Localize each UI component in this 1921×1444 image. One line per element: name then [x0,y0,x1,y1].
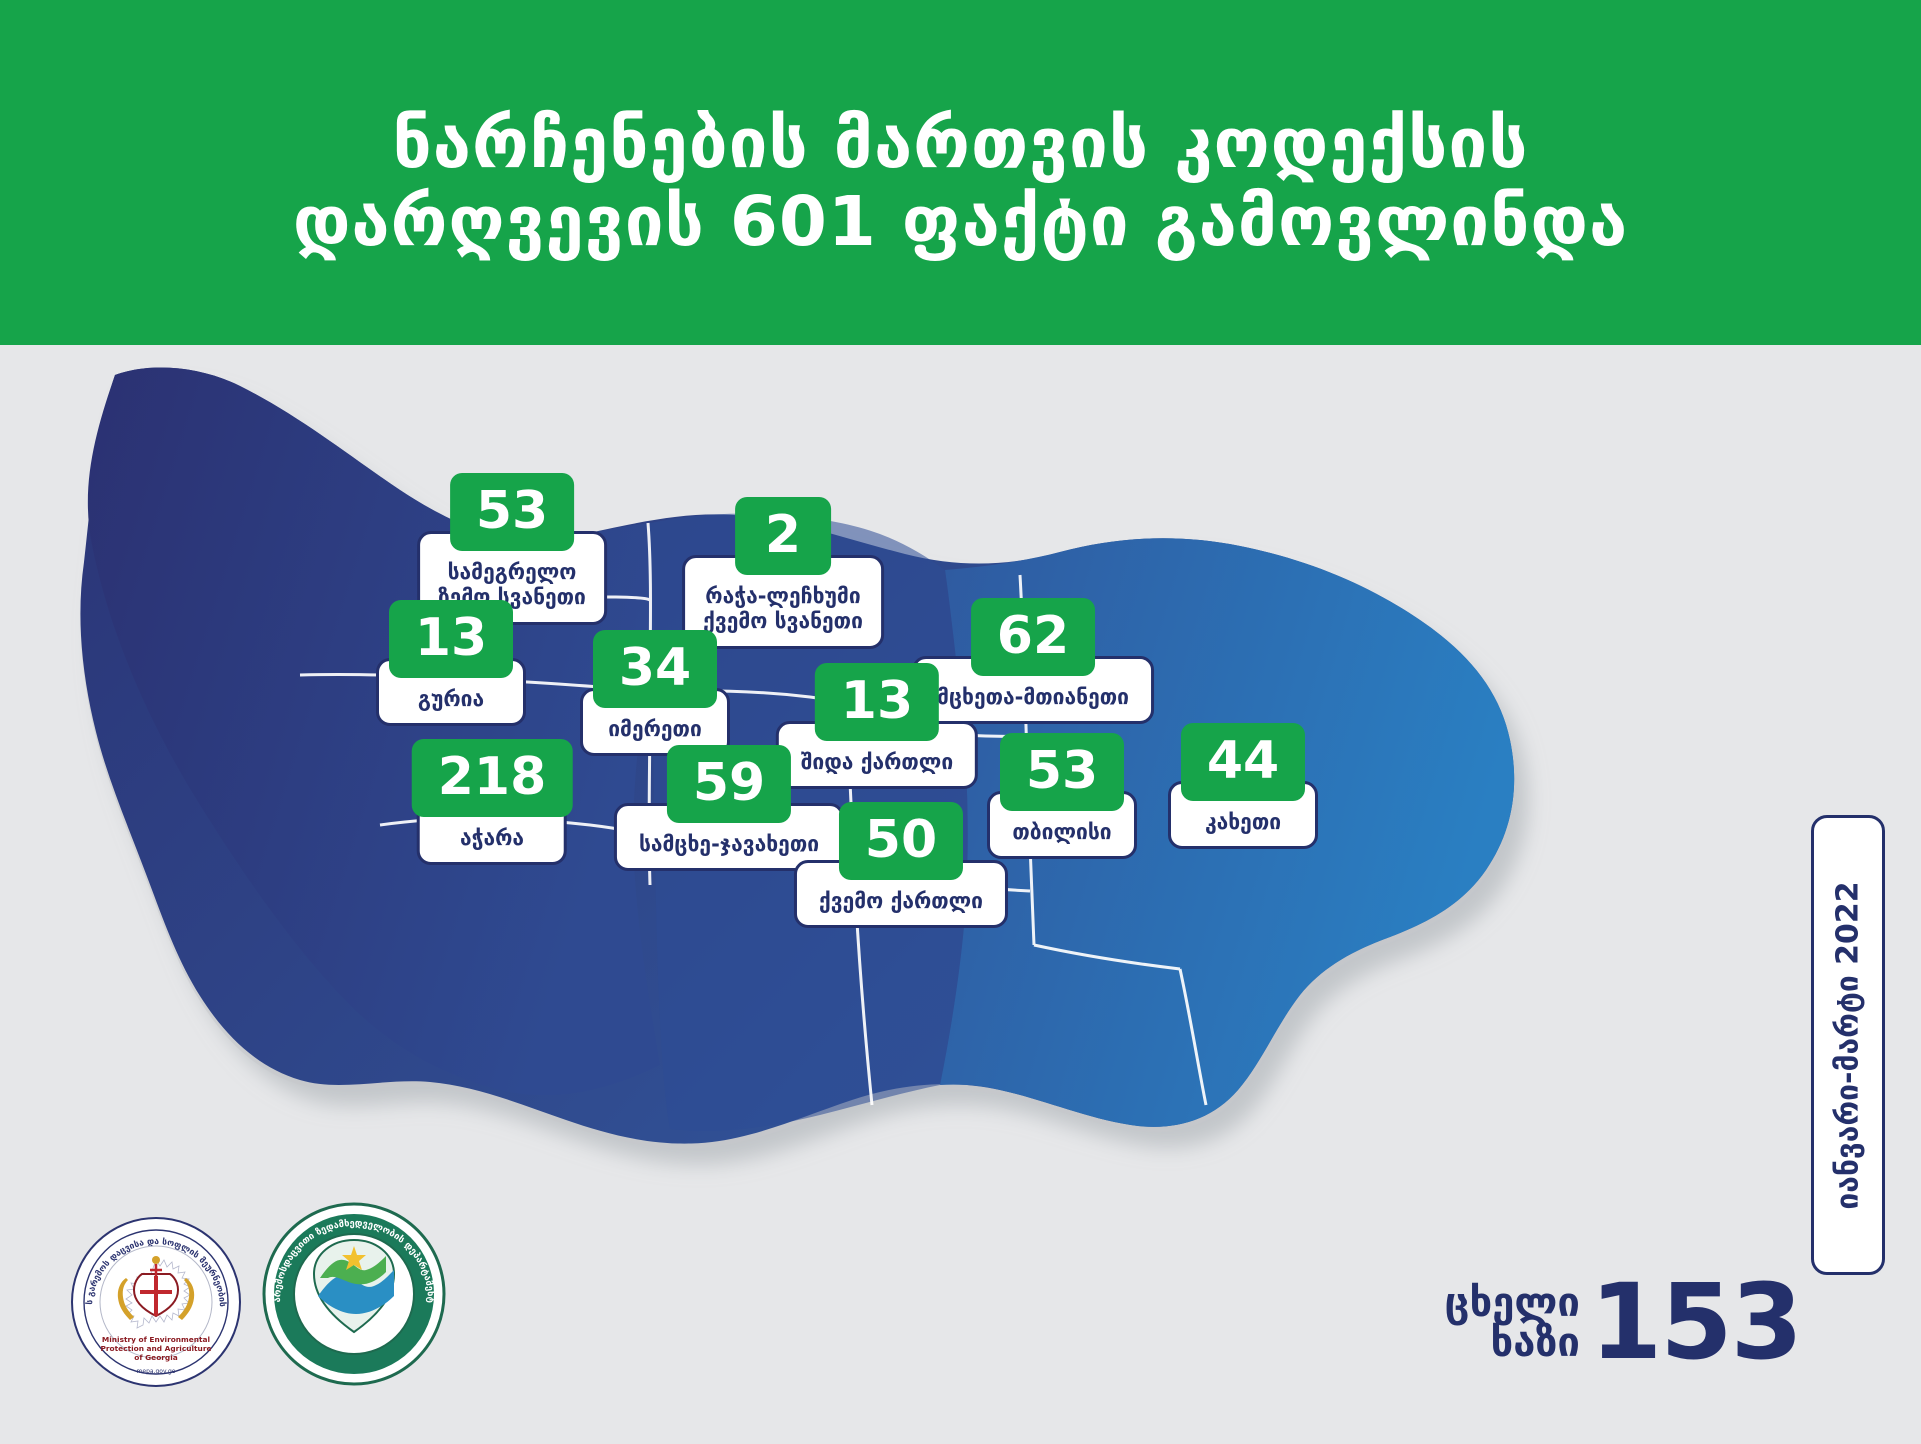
page-title-line-1: ნარჩენების მართვის კოდექსის [393,106,1529,183]
region-value-badge: 50 [839,802,963,880]
environmental-supervision-department-emblem: გარემოსდაცვითი ზედამხედველობის დეპარტამე… [260,1200,448,1392]
region-value-badge: 53 [1000,733,1124,811]
hotline-word-line-1: ცხელი [1445,1283,1580,1323]
emblem-caption-en-3: of Georgia [134,1353,177,1362]
region-value-badge: 62 [971,598,1095,676]
region-value-badge: 13 [815,663,939,741]
region-value-badge: 34 [593,630,717,708]
hotline-word-line-2: ხაზი [1445,1323,1580,1363]
region-value-badge: 13 [389,600,513,678]
region-value-badge: 44 [1181,723,1305,801]
emblem-caption-url: mepa.gov.ge [137,1368,176,1375]
emblem-group: Ministry of Environmental Protection and… [70,1200,448,1392]
region-value-badge: 2 [735,497,831,575]
hotline-words: ცხელი ხაზი [1445,1283,1580,1363]
period-label: იანვარი-მარტი 2022 [1831,881,1866,1209]
period-badge: იანვარი-მარტი 2022 [1811,815,1885,1275]
region-value-badge: 218 [412,739,573,817]
region-pin: 13გურია [376,600,526,726]
region-pin: 44კახეთი [1168,723,1318,849]
page-title-line-2: დარღვევის 601 ფაქტი გამოვლინდა [293,184,1628,261]
header-banner: ნარჩენების მართვის კოდექსის დარღვევის 60… [0,0,1921,345]
emblem-caption-en-2: Protection and Agriculture [101,1344,212,1353]
hotline-number: 153 [1590,1276,1801,1370]
region-pin: 34იმერეთი [580,630,730,756]
map-area: 53სამეგრელო ზემო სვანეთი2რაჭა-ლეჩხუმი ქვ… [0,345,1921,1444]
emblem-caption-en-1: Ministry of Environmental [102,1335,210,1344]
region-value-badge: 53 [450,473,574,551]
region-pin: 53თბილისი [987,733,1137,859]
region-pin: 218აჭარა [412,739,573,865]
hotline-branding: ცხელი ხაზი 153 [1445,1276,1801,1370]
region-value-badge: 59 [667,745,791,823]
region-pin: 50ქვემო ქართლი [794,802,1008,928]
ministry-of-environmental-protection-emblem: Ministry of Environmental Protection and… [70,1216,242,1392]
region-pin: 2რაჭა-ლეჩხუმი ქვემო სვანეთი [682,497,884,649]
